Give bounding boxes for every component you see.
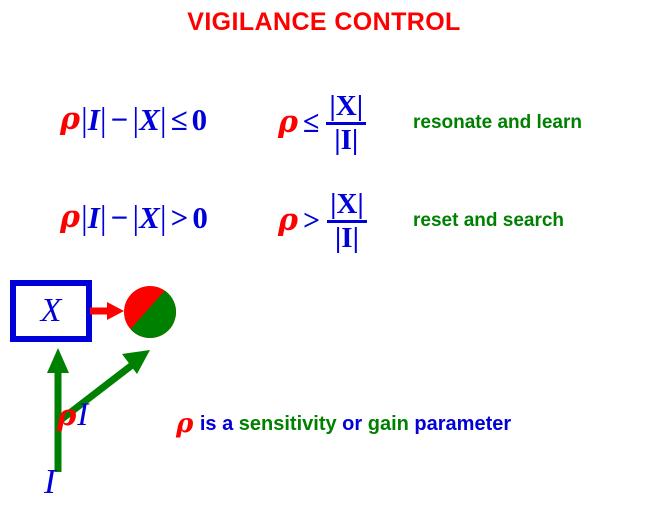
ratio-comparator: ≤ [303,106,319,140]
zero-literal: 0 [192,102,208,138]
abs-bar-open-2: | [132,102,139,140]
abs-bar-open-1: | [81,200,88,238]
rho-symbol: ρ [278,108,298,138]
fraction-numerator: |X| [327,189,367,219]
caption-text: ρ is a sensitivity or gain parameter [176,409,511,435]
variable-i: I [77,397,88,433]
abs-bar-open-2: | [132,200,139,238]
abs-bar-close-2: | [160,102,167,140]
caption-part-4: gain [368,413,409,435]
fraction-x-over-i: |X| |I| [327,189,367,253]
equation-2-ratio-form: ρ > |X| |I| [278,176,367,266]
abs-bar-close-1: | [100,102,107,140]
caption-part-1: is a [200,413,233,435]
variable-x: X [139,102,160,138]
abs-bar-open-1: | [81,102,88,140]
abs-bar-close-1: | [100,200,107,238]
x-box [13,283,89,339]
minus-operator: − [111,102,129,138]
fraction-denominator: |I| [332,223,362,253]
input-label: I [44,464,56,499]
weighted-input-label: ρI [57,399,88,432]
fraction-numerator: |X| [326,91,366,121]
fraction-denominator: |I| [331,125,361,155]
red-arrow-icon [90,302,124,320]
rho-symbol: ρ [60,105,80,135]
comparator-operator: > [171,200,189,236]
rho-symbol: ρ [176,409,193,439]
abs-bar-close-2: | [160,200,167,238]
equation-row-reset: ρ|I|−|X|>0 ρ > |X| |I| reset and search [0,176,648,266]
equation-1-outcome-label: resonate and learn [413,78,582,168]
page-title: VIGILANCE CONTROL [0,8,648,37]
rho-symbol: ρ [278,206,298,236]
fraction-x-over-i: |X| |I| [326,91,366,155]
comparator-operator: ≤ [171,102,188,138]
reset-node-circle [110,278,184,352]
zero-literal: 0 [192,200,208,236]
rho-symbol: ρ [60,203,80,233]
slide-canvas: VIGILANCE CONTROL ρ|I|−|X|≤0 ρ ≤ |X| |I|… [0,0,648,516]
variable-i: I [88,102,100,138]
equation-1-ratio-form: ρ ≤ |X| |I| [278,78,366,168]
variable-x: X [139,200,160,236]
equation-1-left-expression: ρ|I|−|X|≤0 [60,92,270,148]
caption-part-5: parameter [414,413,511,435]
caption-part-2: sensitivity [239,413,337,435]
equation-2-outcome-label: reset and search [413,176,564,266]
rho-symbol: ρ [57,398,76,432]
minus-operator: − [111,200,129,236]
variable-i: I [88,200,100,236]
ratio-comparator: > [303,204,320,238]
equation-row-resonate: ρ|I|−|X|≤0 ρ ≤ |X| |I| resonate and lear… [0,78,648,168]
caption-part-3: or [342,413,362,435]
equation-2-left-expression: ρ|I|−|X|>0 [60,190,270,246]
